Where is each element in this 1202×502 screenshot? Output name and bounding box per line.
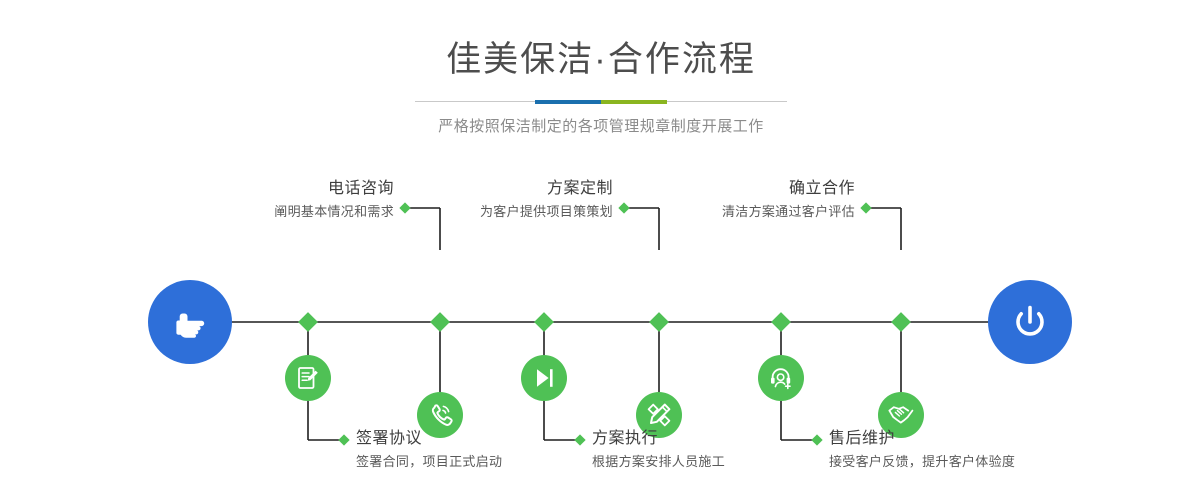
step-title-1: 电话咨询 [274,178,394,200]
divider-segment-green [601,100,667,104]
customer-support-icon [768,365,795,392]
step-node-6[interactable] [758,355,804,401]
step-title-4: 方案执行 [592,428,725,450]
phone-call-icon [426,401,454,429]
step-label-5: 确立合作 清洁方案通过客户评估 [722,178,855,222]
process-flow-diagram: 电话咨询 阐明基本情况和需求 签署协议 签署合同，项目正式启动 [0,150,1202,502]
step-desc-3: 为客户提供项目策策划 [480,202,613,222]
divider-segment-blue [535,100,601,104]
step-desc-2: 签署合同，项目正式启动 [356,452,502,472]
step-node-2[interactable] [285,355,331,401]
title-divider [415,96,787,108]
step-desc-1: 阐明基本情况和需求 [274,202,394,222]
step-title-6: 售后维护 [829,428,1015,450]
pencil-design-icon [645,401,673,429]
power-icon [1007,299,1053,345]
page-title: 佳美保洁·合作流程 [0,38,1202,82]
flow-end-node[interactable] [988,280,1072,364]
step-desc-6: 接受客户反馈，提升客户体验度 [829,452,1015,472]
step-title-3: 方案定制 [480,178,613,200]
flow-start-node[interactable] [148,280,232,364]
step-title-2: 签署协议 [356,428,502,450]
step-label-3: 方案定制 为客户提供项目策策划 [480,178,613,222]
header: 佳美保洁·合作流程 严格按照保洁制定的各项管理规章制度开展工作 [0,0,1202,138]
step-node-4[interactable] [521,355,567,401]
cooperation-process-infographic: 佳美保洁·合作流程 严格按照保洁制定的各项管理规章制度开展工作 [0,0,1202,502]
page-subtitle: 严格按照保洁制定的各项管理规章制度开展工作 [0,116,1202,138]
step-title-5: 确立合作 [722,178,855,200]
step-label-1: 电话咨询 阐明基本情况和需求 [274,178,394,222]
step-desc-4: 根据方案安排人员施工 [592,452,725,472]
handshake-icon [886,400,916,430]
play-execute-icon [531,365,557,391]
step-label-6: 售后维护 接受客户反馈，提升客户体验度 [829,428,1015,472]
step-label-2: 签署协议 签署合同，项目正式启动 [356,428,502,472]
pointing-hand-icon [168,300,212,344]
step-label-4: 方案执行 根据方案安排人员施工 [592,428,725,472]
step-desc-5: 清洁方案通过客户评估 [722,202,855,222]
sign-document-icon [295,365,321,391]
